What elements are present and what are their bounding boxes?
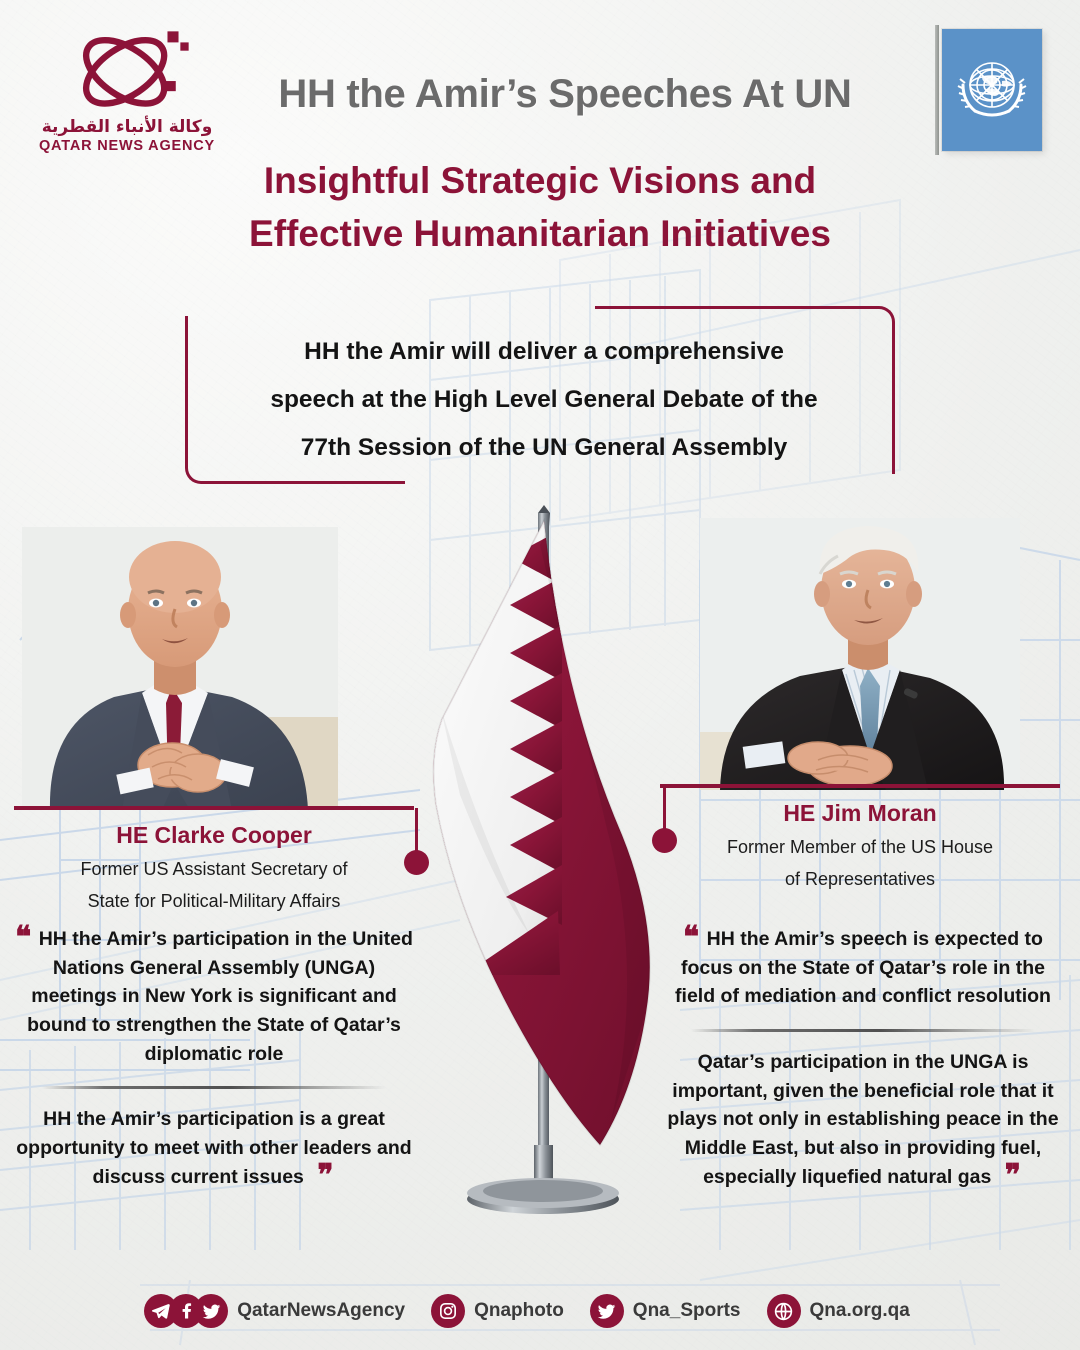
- person-role-right-line2: of Representatives: [660, 864, 1060, 896]
- portrait-jim-moran: [700, 518, 1020, 790]
- connector-line: [663, 786, 666, 832]
- quote-right-1-text: ❝ HH the Amir’s speech is expected to fo…: [663, 925, 1063, 1011]
- globe-icon[interactable]: [767, 1294, 801, 1328]
- person-role-left-line2: State for Political-Military Affairs: [14, 886, 414, 918]
- quote-right-2-text: Qatar’s participation in the UNGA is imp…: [663, 1048, 1063, 1191]
- person-name-right: HE Jim Moran: [660, 800, 1060, 827]
- person-role-right: Former Member of the US House of Represe…: [660, 832, 1060, 895]
- social-handle-sports: Qna_Sports: [633, 1300, 741, 1322]
- connector-dot: [404, 850, 429, 875]
- qna-logo-arabic: وكالة الأنباء القطرية: [36, 117, 218, 137]
- social-handle-main: QatarNewsAgency: [237, 1300, 405, 1322]
- person-rule-left: [14, 806, 414, 810]
- quote-right-1: ❝ HH the Amir’s speech is expected to fo…: [663, 925, 1063, 1011]
- connector-dot: [652, 828, 677, 853]
- quote-column-left: ❝ HH the Amir’s participation in the Uni…: [14, 925, 414, 1191]
- social-group-sports: Qna_Sports: [590, 1294, 767, 1328]
- page-subtitle: Insightful Strategic Visions and Effecti…: [0, 155, 1080, 260]
- social-group-main: QatarNewsAgency: [144, 1294, 431, 1328]
- statement-line3: 77th Session of the UN General Assembly: [223, 424, 865, 472]
- quote-body: Qatar’s participation in the UNGA is imp…: [667, 1051, 1058, 1188]
- person-role-right-line1: Former Member of the US House: [660, 832, 1060, 864]
- social-group-website: Qna.org.qa: [767, 1294, 936, 1328]
- quote-left-2: HH the Amir’s participation is a great o…: [14, 1105, 414, 1191]
- quote-column-right: ❝ HH the Amir’s speech is expected to fo…: [663, 925, 1063, 1191]
- quote-left-1-text: ❝ HH the Amir’s participation in the Uni…: [14, 925, 414, 1068]
- social-group-instagram: Qnaphoto: [431, 1294, 590, 1328]
- quote-divider-right: [691, 1029, 1035, 1032]
- person-role-left: Former US Assistant Secretary of State f…: [14, 854, 414, 917]
- statement-text: HH the Amir will deliver a comprehensive…: [223, 328, 865, 471]
- instagram-icon[interactable]: [431, 1294, 465, 1328]
- social-handle-instagram: Qnaphoto: [474, 1300, 564, 1322]
- statement-line1: HH the Amir will deliver a comprehensive: [223, 328, 865, 376]
- portrait-clarke-cooper: [22, 527, 338, 810]
- connector-elbow-right: [652, 784, 678, 850]
- connector-line: [415, 808, 418, 854]
- quote-divider-left: [42, 1086, 386, 1089]
- person-role-left-line1: Former US Assistant Secretary of: [14, 854, 414, 886]
- page-subtitle-line1: Insightful Strategic Visions and: [120, 155, 960, 208]
- social-footer: QatarNewsAgency Qnaphoto Qna_Sports Qna.…: [0, 1294, 1080, 1328]
- quote-body: HH the Amir’s speech is expected to focu…: [675, 928, 1051, 1007]
- person-name-left: HE Clarke Cooper: [14, 822, 414, 849]
- person-rule-right: [660, 784, 1060, 788]
- qna-logo-english: QATAR NEWS AGENCY: [36, 138, 218, 154]
- statement-bracket-frame: HH the Amir will deliver a comprehensive…: [185, 306, 895, 484]
- qatar-flag-on-stand: [410, 505, 670, 1230]
- quote-body: HH the Amir’s participation in the Unite…: [27, 928, 413, 1065]
- quote-left-2-text: HH the Amir’s participation is a great o…: [14, 1105, 414, 1191]
- statement-line2: speech at the High Level General Debate …: [223, 376, 865, 424]
- social-handle-website: Qna.org.qa: [810, 1300, 910, 1322]
- page-subtitle-line2: Effective Humanitarian Initiatives: [120, 208, 960, 261]
- connector-elbow-left: [403, 806, 429, 872]
- person-card-right: HE Jim Moran Former Member of the US Hou…: [660, 784, 1060, 895]
- twitter-icon[interactable]: [194, 1294, 228, 1328]
- quote-body: HH the Amir’s participation is a great o…: [16, 1108, 411, 1187]
- person-card-left: HE Clarke Cooper Former US Assistant Sec…: [14, 806, 414, 917]
- page-title: HH the Amir’s Speeches At UN: [0, 72, 1080, 117]
- quote-left-1: ❝ HH the Amir’s participation in the Uni…: [14, 925, 414, 1068]
- quote-right-2: Qatar’s participation in the UNGA is imp…: [663, 1048, 1063, 1191]
- twitter-icon[interactable]: [590, 1294, 624, 1328]
